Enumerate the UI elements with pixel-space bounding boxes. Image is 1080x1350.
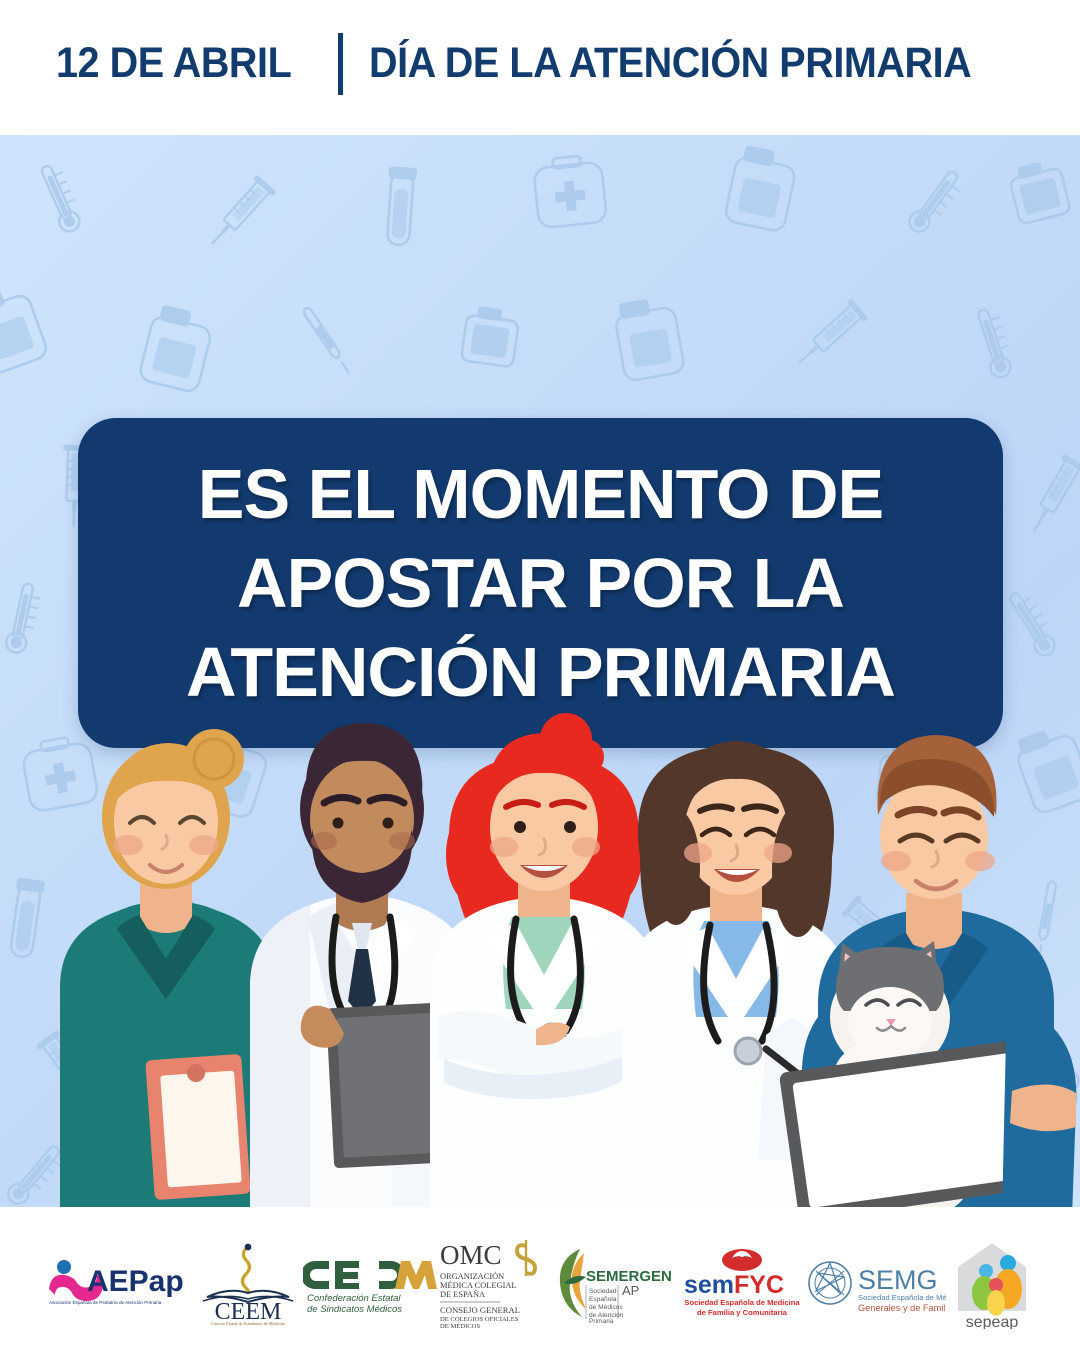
clipboard-prop [145,1054,251,1200]
svg-text:DE COLEGIOS OFICIALES: DE COLEGIOS OFICIALES [440,1316,519,1323]
ceem-logo[interactable]: CEEM Consejo Estatal de Estudiantes de M… [193,1241,303,1325]
cesm-logo[interactable]: Confederación Estatal de Sindicatos Médi… [303,1251,438,1315]
svg-text:AEPap: AEPap [87,1265,184,1298]
character-nurse-blonde [60,729,276,1207]
title-line-2: APOSTAR POR LA [237,539,844,628]
header-date: 12 DE ABRIL [56,39,291,88]
semg-logo[interactable]: SEMG Sociedad Española de Médicos Genera… [806,1249,946,1317]
svg-text:de Sindicatos Médicos: de Sindicatos Médicos [307,1304,402,1315]
title-line-1: ES EL MOMENTO DE [198,450,883,539]
svg-text:OMC: OMC [440,1240,502,1270]
semergen-logo[interactable]: SEMERGEN AP Sociedad Española de Médicos… [550,1243,678,1323]
svg-text:ORGANIZACIÓN: ORGANIZACIÓN [440,1271,504,1281]
svg-text:FYC: FYC [734,1271,784,1299]
svg-text:Primaria: Primaria [589,1318,614,1323]
svg-text:Sociedad Española de Medicina: Sociedad Española de Medicina [684,1298,800,1307]
svg-text:DE MÉDICOS: DE MÉDICOS [440,1322,480,1328]
svg-text:MÉDICA COLEGIAL: MÉDICA COLEGIAL [440,1280,517,1290]
svg-text:Consejo Estatal de Estudiantes: Consejo Estatal de Estudiantes de Medici… [211,1321,285,1325]
svg-text:Española: Española [589,1296,617,1303]
header-occasion: DÍA DE LA ATENCIÓN PRIMARIA [369,39,971,88]
sepeap-logo[interactable]: sepeap [946,1237,1038,1329]
svg-text:CONSEJO GENERAL: CONSEJO GENERAL [440,1305,520,1315]
footer-logo-bar: AEPap Asociación Española de Pediatría d… [0,1207,1080,1350]
svg-text:sepeap: sepeap [965,1314,1018,1329]
svg-text:de Familia y Comunitaria: de Familia y Comunitaria [697,1308,788,1317]
poster-illustration: ES EL MOMENTO DE APOSTAR POR LA ATENCIÓN… [0,135,1080,1207]
omc-logo[interactable]: OMC ORGANIZACIÓN MÉDICA COLEGIAL DE ESPA… [438,1238,550,1328]
healthcare-workers-illustration [0,687,1080,1207]
svg-text:SEMG: SEMG [858,1265,938,1295]
svg-text:sem: sem [684,1271,734,1299]
svg-text:AP: AP [622,1283,639,1298]
header-divider [338,33,343,95]
semfyc-logo[interactable]: sem FYC Sociedad Española de Medicina de… [678,1247,806,1319]
aepap-logo[interactable]: AEPap Asociación Española de Pediatría d… [43,1251,193,1315]
svg-text:Sociedad Española de Médicos: Sociedad Española de Médicos [858,1293,946,1302]
svg-text:Generales y de Familia: Generales y de Familia [858,1303,946,1313]
svg-text:Confederación Estatal: Confederación Estatal [307,1293,401,1304]
svg-text:de Médicos: de Médicos [589,1304,623,1311]
svg-text:Sociedad: Sociedad [589,1288,617,1295]
aepap-tagline: Asociación Española de Pediatría de Aten… [49,1300,162,1305]
svg-text:DE ESPAÑA: DE ESPAÑA [440,1289,485,1299]
header-band: 12 DE ABRIL DÍA DE LA ATENCIÓN PRIMARIA [0,0,1080,135]
header-title-group: 12 DE ABRIL DÍA DE LA ATENCIÓN PRIMARIA [56,33,1023,95]
